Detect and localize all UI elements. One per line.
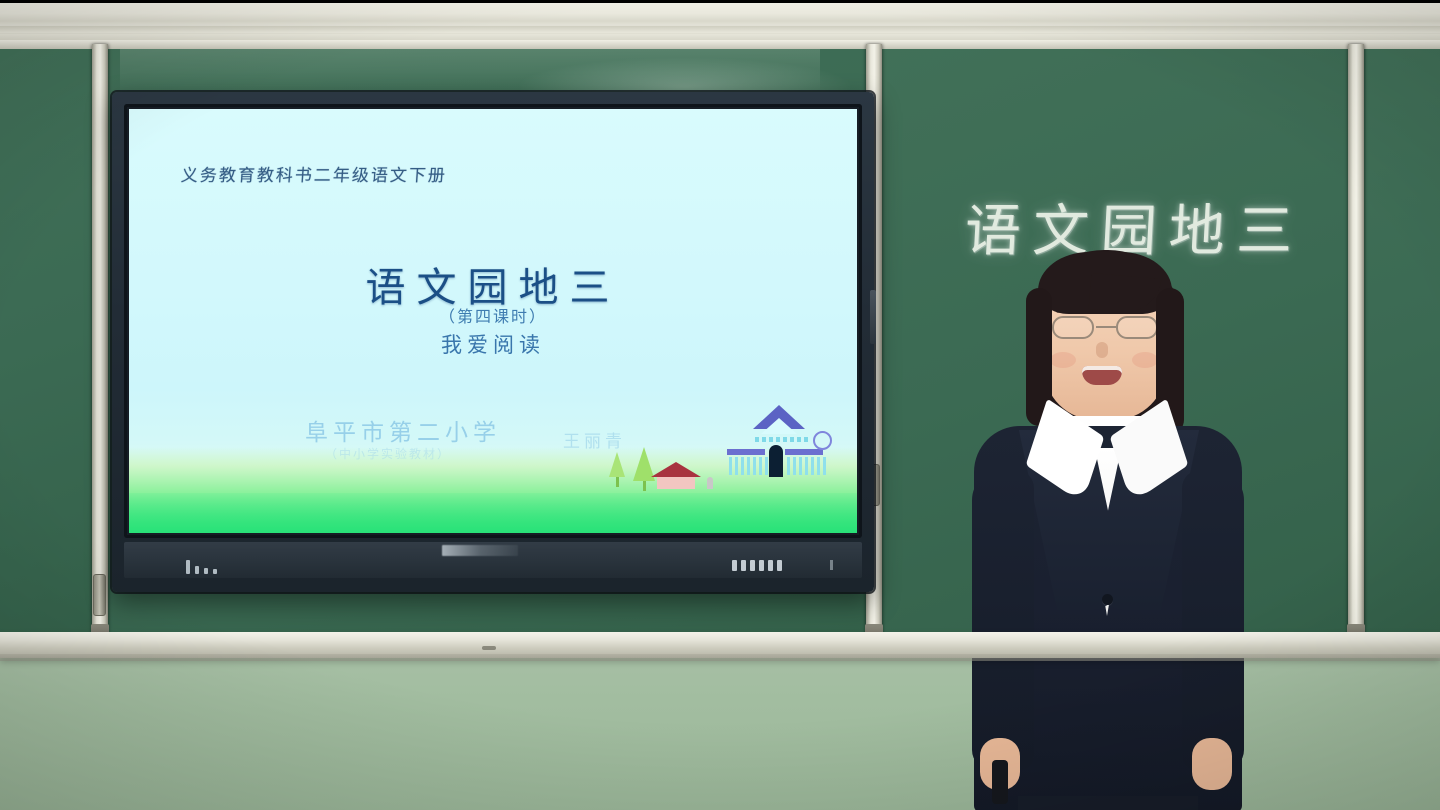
power-indicator-group[interactable] bbox=[186, 560, 217, 574]
chalk-tray-lip bbox=[0, 654, 1440, 661]
display-control-strip[interactable] bbox=[124, 542, 862, 578]
tree-icon bbox=[609, 452, 625, 487]
arm-right bbox=[1182, 470, 1244, 770]
board-latch-handle-left[interactable] bbox=[93, 574, 106, 616]
function-button-group[interactable] bbox=[732, 560, 782, 571]
cheek-left bbox=[1050, 352, 1076, 368]
cottage-icon bbox=[651, 462, 701, 489]
cheek-right bbox=[1132, 352, 1158, 368]
hand-right bbox=[1192, 738, 1232, 790]
jacket-button bbox=[1102, 594, 1113, 605]
school-scene-illustration bbox=[603, 395, 839, 505]
chalk-debris bbox=[482, 646, 496, 650]
nose bbox=[1096, 342, 1108, 358]
classroom-scene: 语文园地三 义务教育教科书二年级语文下册 语文园地三 （第四课时） 我爱阅读 阜… bbox=[0, 0, 1440, 810]
presenter-remote[interactable] bbox=[992, 760, 1008, 804]
slide-textbook-header: 义务教育教科书二年级语文下册 bbox=[180, 161, 448, 186]
slide-subtitle-session: （第四课时） bbox=[129, 303, 857, 327]
mouth bbox=[1082, 366, 1122, 385]
slide-topic: 我爱阅读 bbox=[129, 329, 857, 359]
brand-logo bbox=[442, 545, 518, 556]
presenter-figure bbox=[960, 240, 1260, 810]
slide-school-name: 阜平市第二小学 bbox=[305, 413, 501, 447]
board-horizontal-rail bbox=[0, 40, 1440, 49]
hair-fringe bbox=[1038, 252, 1172, 314]
board-slide-rail-left[interactable] bbox=[92, 44, 108, 636]
arm-left bbox=[972, 470, 1034, 770]
sun-circle-icon bbox=[813, 431, 832, 450]
interactive-whiteboard[interactable]: 义务教育教科书二年级语文下册 语文园地三 （第四课时） 我爱阅读 阜平市第二小学… bbox=[112, 92, 874, 592]
eyeglasses-icon bbox=[1050, 316, 1160, 340]
school-building-icon bbox=[721, 405, 829, 491]
display-bezel: 义务教育教科书二年级语文下册 语文园地三 （第四课时） 我爱阅读 阜平市第二小学… bbox=[124, 104, 862, 538]
chalkboard-panel-left[interactable] bbox=[0, 44, 92, 636]
trousers bbox=[1018, 796, 1198, 810]
board-slide-rail-right[interactable] bbox=[1348, 44, 1364, 636]
presentation-slide[interactable]: 义务教育教科书二年级语文下册 语文园地三 （第四课时） 我爱阅读 阜平市第二小学… bbox=[129, 109, 857, 533]
top-letterbox bbox=[0, 0, 1440, 3]
display-side-sensor bbox=[870, 290, 876, 344]
chalkboard-panel-far-right[interactable] bbox=[1366, 44, 1440, 636]
extra-indicator[interactable] bbox=[830, 560, 833, 570]
display-screen[interactable]: 义务教育教科书二年级语文下册 语文园地三 （第四课时） 我爱阅读 阜平市第二小学… bbox=[129, 109, 857, 533]
slide-school-note: （中小学实验教材） bbox=[325, 445, 451, 462]
